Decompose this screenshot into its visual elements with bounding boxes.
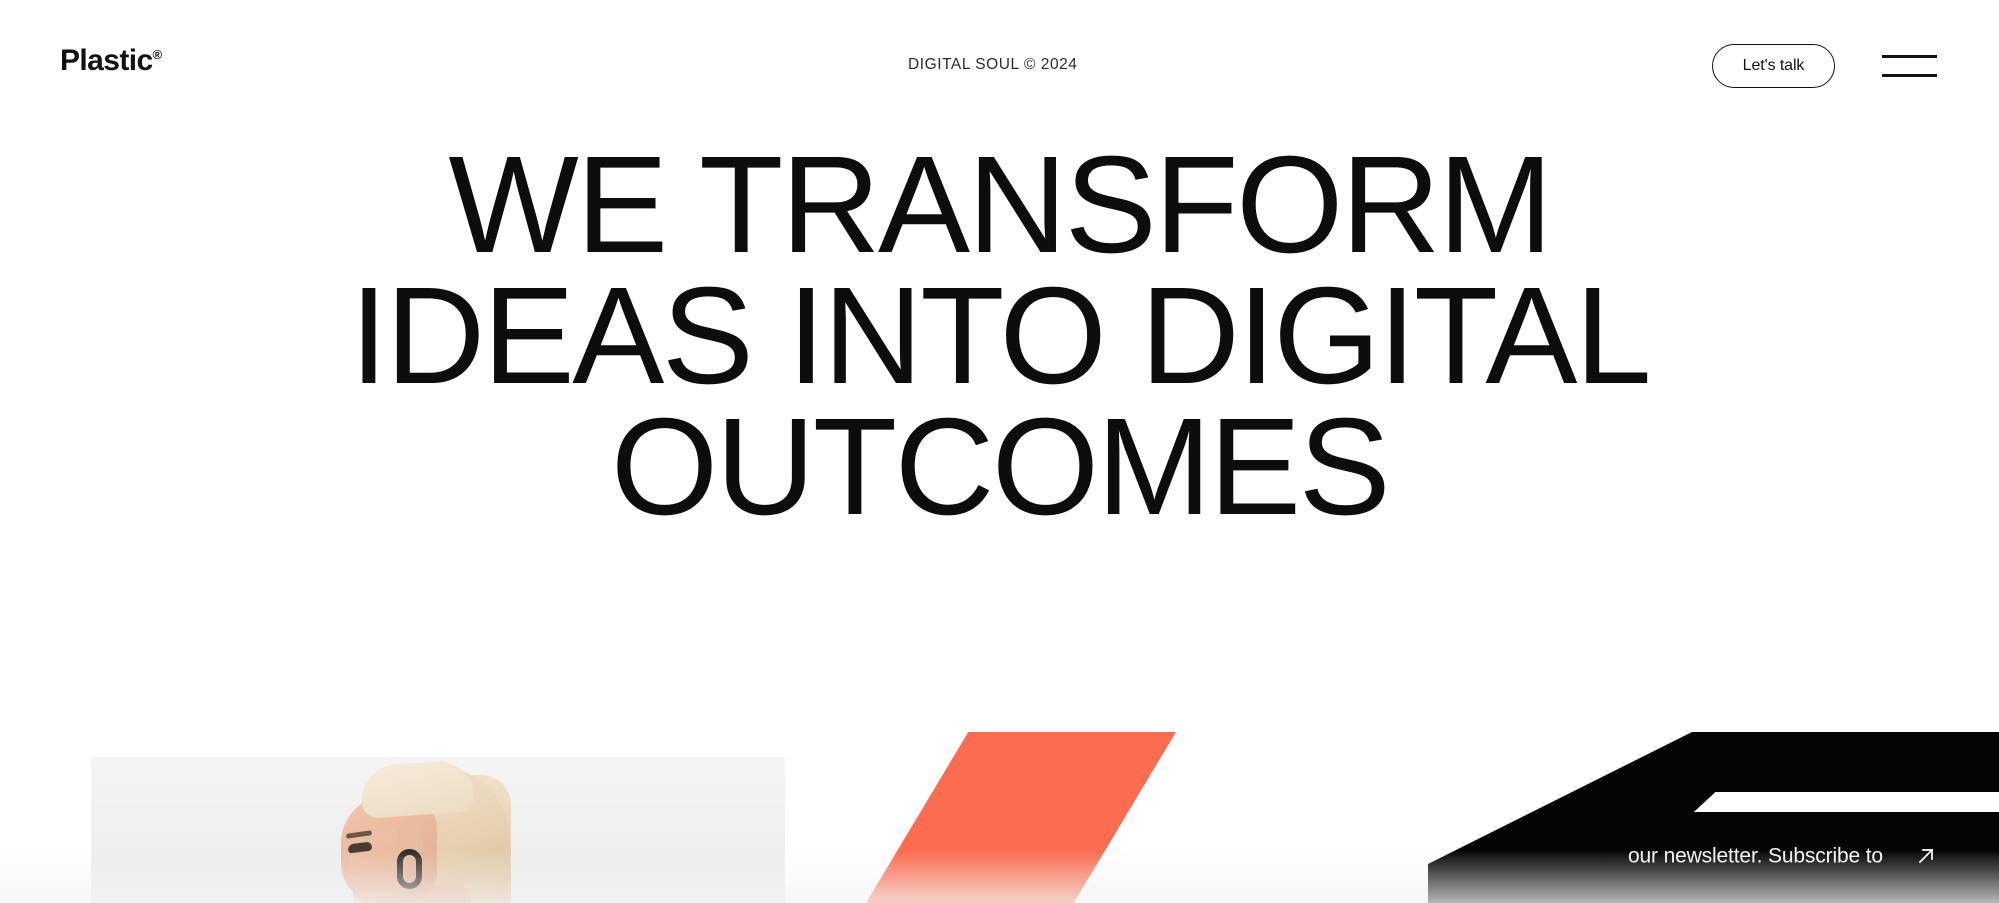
header-tagline: DIGITAL SOUL © 2024 — [908, 57, 1077, 73]
menu-bar-bottom — [1882, 74, 1937, 77]
headline-line-2: IDEAS INTO DIGITAL — [0, 271, 1999, 402]
hoop-earring — [397, 849, 422, 889]
orange-parallelogram-shape — [866, 732, 1176, 903]
menu-bar-top — [1882, 55, 1937, 58]
newsletter-subscribe-banner[interactable]: our newsletter. Subscribe to — [1600, 812, 1999, 900]
portrait-figure — [327, 757, 552, 903]
hair-fringe — [359, 759, 474, 819]
hamburger-menu-icon[interactable] — [1882, 46, 1940, 86]
arrow-up-right-icon[interactable] — [1913, 843, 1939, 869]
hero-headline: WE TRANSFORM IDEAS INTO DIGITAL OUTCOMES — [0, 140, 1999, 533]
portrait-photo-card[interactable] — [91, 757, 785, 903]
hero-composition: our newsletter. Subscribe to — [0, 560, 1999, 903]
brand-logo[interactable]: Plastic® — [60, 46, 162, 76]
brand-logo-text: Plastic — [60, 44, 153, 77]
lets-talk-label: Let's talk — [1743, 58, 1805, 74]
headline-line-3: OUTCOMES — [0, 402, 1999, 533]
page-root: Plastic® DIGITAL SOUL © 2024 Let's talk … — [0, 0, 1999, 903]
newsletter-marquee-text: our newsletter. Subscribe to — [1628, 846, 1883, 867]
registered-trademark-icon: ® — [153, 47, 163, 62]
site-header: Plastic® DIGITAL SOUL © 2024 Let's talk — [0, 0, 1999, 108]
headline-line-1: WE TRANSFORM — [0, 140, 1999, 271]
lets-talk-button[interactable]: Let's talk — [1712, 44, 1835, 88]
